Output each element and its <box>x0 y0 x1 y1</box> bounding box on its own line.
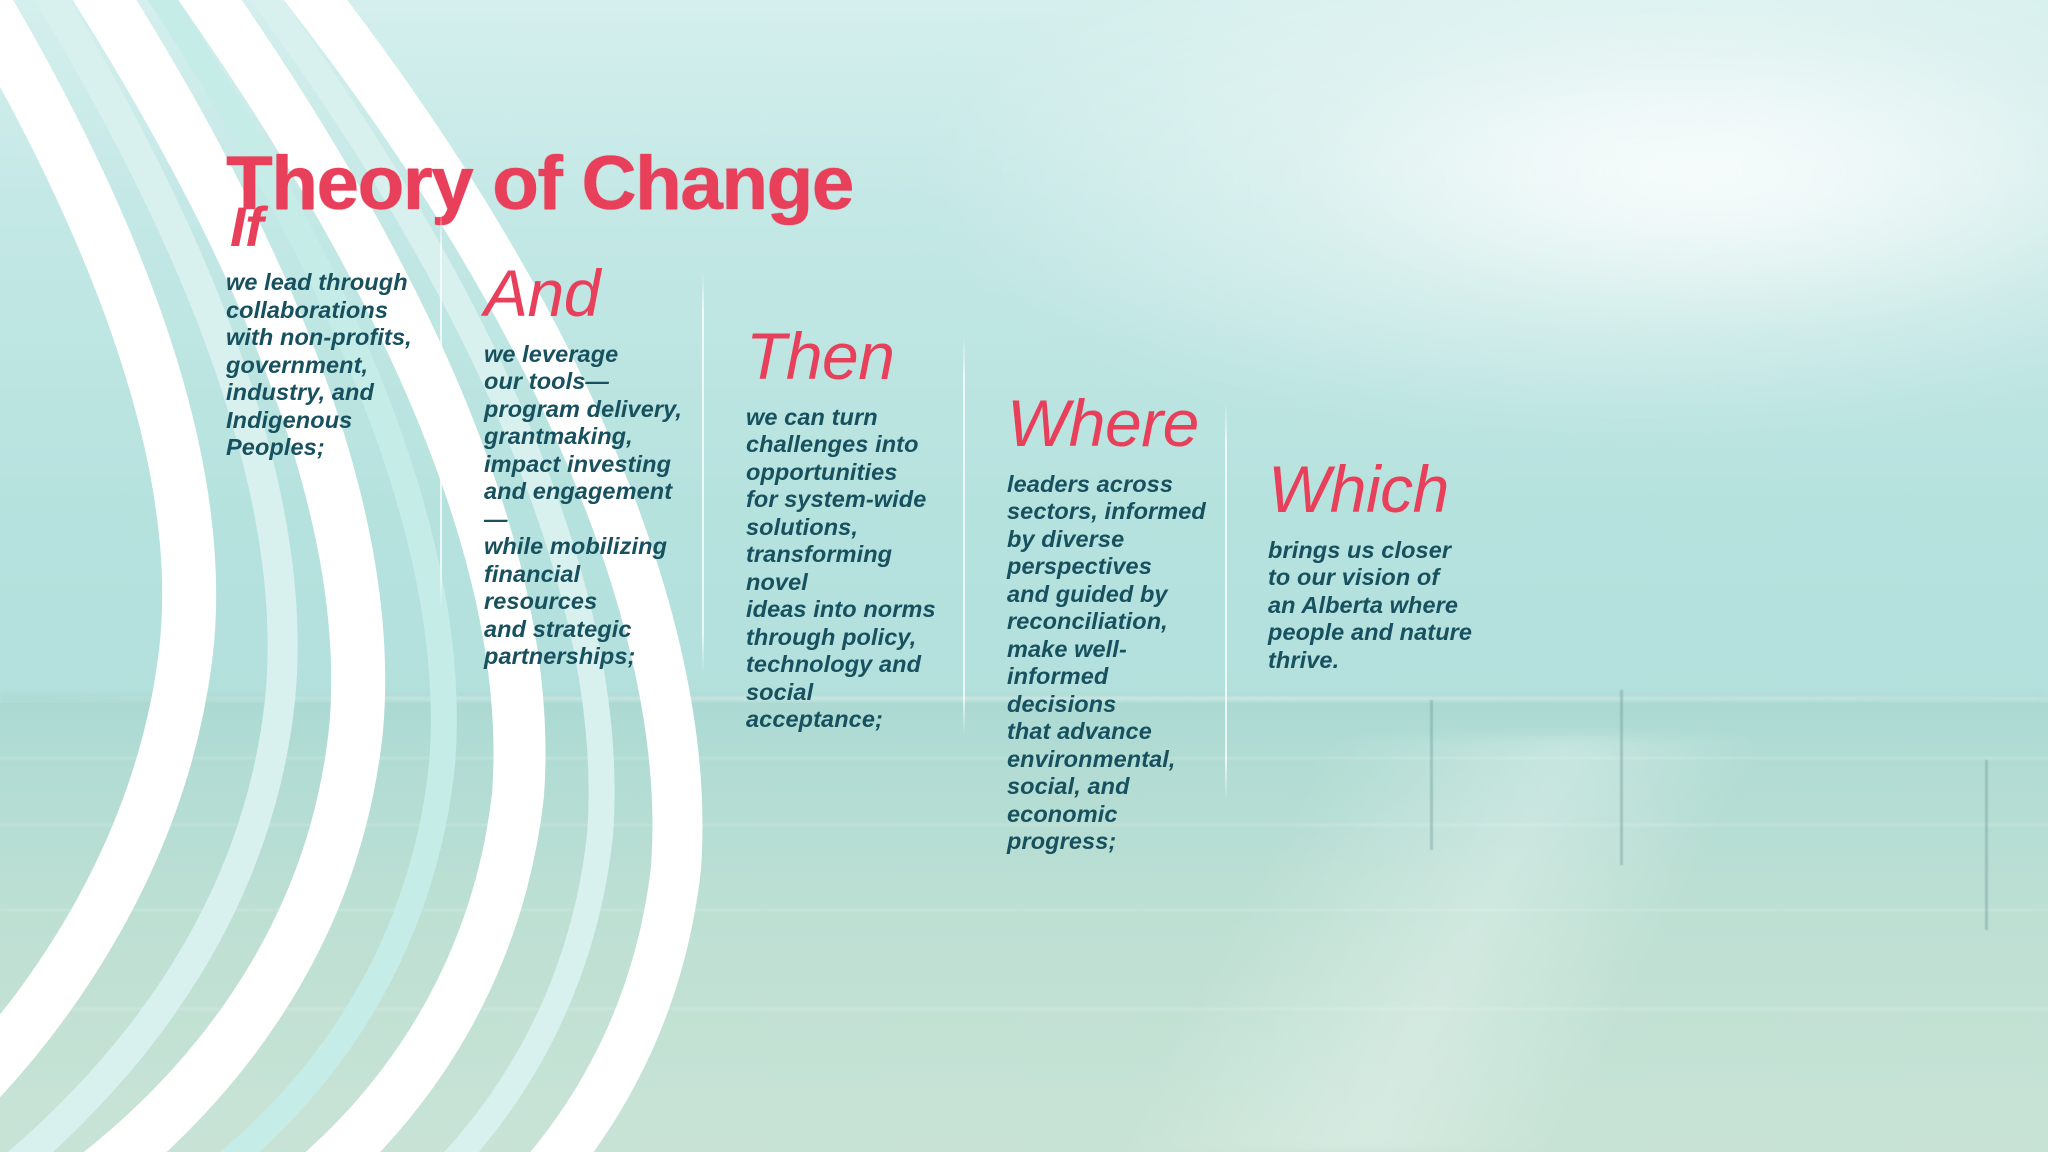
column-divider-1 <box>440 208 442 608</box>
column-divider-2 <box>702 272 704 672</box>
column-body-which: brings us closer to our vision of an Alb… <box>1268 537 1480 674</box>
column-body-and: we leverage our tools— program delivery,… <box>484 341 694 671</box>
column-where: Where leaders across sectors, informed b… <box>1007 392 1219 855</box>
column-keyword-if: If <box>230 200 426 253</box>
column-which: Which brings us closer to our vision of … <box>1268 458 1480 674</box>
column-keyword-then: Then <box>746 325 956 388</box>
column-body-if: we lead through collaborations with non-… <box>226 269 426 461</box>
column-divider-3 <box>963 336 965 736</box>
column-if: If we lead through collaborations with n… <box>226 200 426 462</box>
column-and: And we leverage our tools— program deliv… <box>484 262 694 671</box>
column-then: Then we can turn challenges into opportu… <box>746 325 956 734</box>
column-divider-4 <box>1225 402 1227 802</box>
column-keyword-where: Where <box>1007 392 1219 455</box>
column-keyword-and: And <box>484 262 694 325</box>
slide-content: Theory of Change If we lead through coll… <box>0 0 2048 1152</box>
theory-of-change-slide: Theory of Change If we lead through coll… <box>0 0 2048 1152</box>
column-keyword-which: Which <box>1268 458 1480 521</box>
column-body-where: leaders across sectors, informed by dive… <box>1007 471 1219 856</box>
column-body-then: we can turn challenges into opportunitie… <box>746 404 956 734</box>
